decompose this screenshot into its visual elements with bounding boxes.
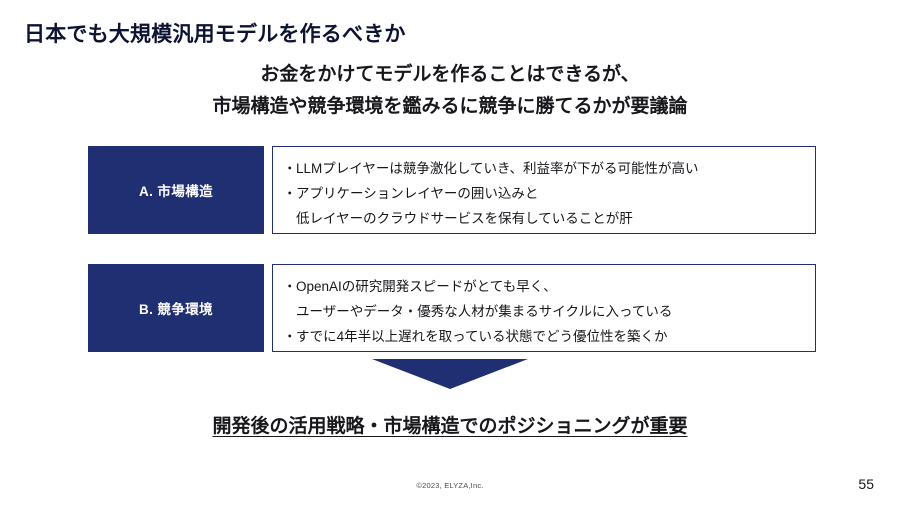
section-competitive-environment: B. 競争環境 ・ OpenAIの研究開発スピードがとても早く、 ユーザーやデー… — [88, 264, 816, 352]
arrow-down-icon — [372, 359, 528, 389]
subtitle-line-1: お金をかけてモデルを作ることはできるが、 — [0, 59, 900, 91]
list-item: ・ アプリケーションレイヤーの囲い込みと 低レイヤーのクラウドサービスを保有して… — [283, 181, 805, 231]
section-label-a: A. 市場構造 — [88, 146, 264, 234]
list-item: ・ すでに4年半以上遅れを取っている状態でどう優位性を築くか — [283, 324, 805, 349]
bullet-line: すでに4年半以上遅れを取っている状態でどう優位性を築くか — [296, 324, 667, 349]
bullet-line-continuation: 低レイヤーのクラウドサービスを保有していることが肝 — [296, 206, 633, 231]
conclusion-text: 開発後の活用戦略・市場構造でのポジショニングが重要 — [212, 416, 687, 437]
section-body-b: ・ OpenAIの研究開発スピードがとても早く、 ユーザーやデータ・優秀な人材が… — [272, 264, 816, 352]
page-title: 日本でも大規模汎用モデルを作るべきか — [24, 18, 406, 48]
bullet-text-group: すでに4年半以上遅れを取っている状態でどう優位性を築くか — [296, 324, 667, 349]
bullet-text-group: LLMプレイヤーは競争激化していき、利益率が下がる可能性が高い — [296, 156, 699, 181]
bullet-marker-icon: ・ — [283, 181, 296, 206]
subtitle-block: お金をかけてモデルを作ることはできるが、 市場構造や競争環境を鑑みるに競争に勝て… — [0, 59, 900, 123]
page-number: 55 — [858, 476, 874, 492]
section-label-b-text: B. 競争環境 — [139, 298, 213, 318]
list-item: ・ OpenAIの研究開発スピードがとても早く、 ユーザーやデータ・優秀な人材が… — [283, 274, 805, 324]
slide-canvas: 日本でも大規模汎用モデルを作るべきか お金をかけてモデルを作ることはできるが、 … — [0, 0, 900, 506]
section-label-a-text: A. 市場構造 — [139, 180, 213, 200]
section-label-b: B. 競争環境 — [88, 264, 264, 352]
bullet-line-continuation: ユーザーやデータ・優秀な人材が集まるサイクルに入っている — [296, 299, 672, 324]
bullet-text-group: OpenAIの研究開発スピードがとても早く、 ユーザーやデータ・優秀な人材が集ま… — [296, 274, 672, 324]
bullet-line: LLMプレイヤーは競争激化していき、利益率が下がる可能性が高い — [296, 156, 699, 181]
bullet-marker-icon: ・ — [283, 156, 296, 181]
section-body-a: ・ LLMプレイヤーは競争激化していき、利益率が下がる可能性が高い ・ アプリケ… — [272, 146, 816, 234]
bullet-line: アプリケーションレイヤーの囲い込みと — [296, 181, 633, 206]
bullet-text-group: アプリケーションレイヤーの囲い込みと 低レイヤーのクラウドサービスを保有している… — [296, 181, 633, 231]
bullet-line: OpenAIの研究開発スピードがとても早く、 — [296, 274, 672, 299]
bullet-marker-icon: ・ — [283, 274, 296, 299]
subtitle-line-2: 市場構造や競争環境を鑑みるに競争に勝てるかが要議論 — [0, 91, 900, 123]
bullet-marker-icon: ・ — [283, 324, 296, 349]
conclusion-block: 開発後の活用戦略・市場構造でのポジショニングが重要 — [0, 411, 900, 438]
section-market-structure: A. 市場構造 ・ LLMプレイヤーは競争激化していき、利益率が下がる可能性が高… — [88, 146, 816, 234]
footer-copyright: ©2023, ELYZA,Inc. — [0, 481, 900, 490]
list-item: ・ LLMプレイヤーは競争激化していき、利益率が下がる可能性が高い — [283, 156, 805, 181]
